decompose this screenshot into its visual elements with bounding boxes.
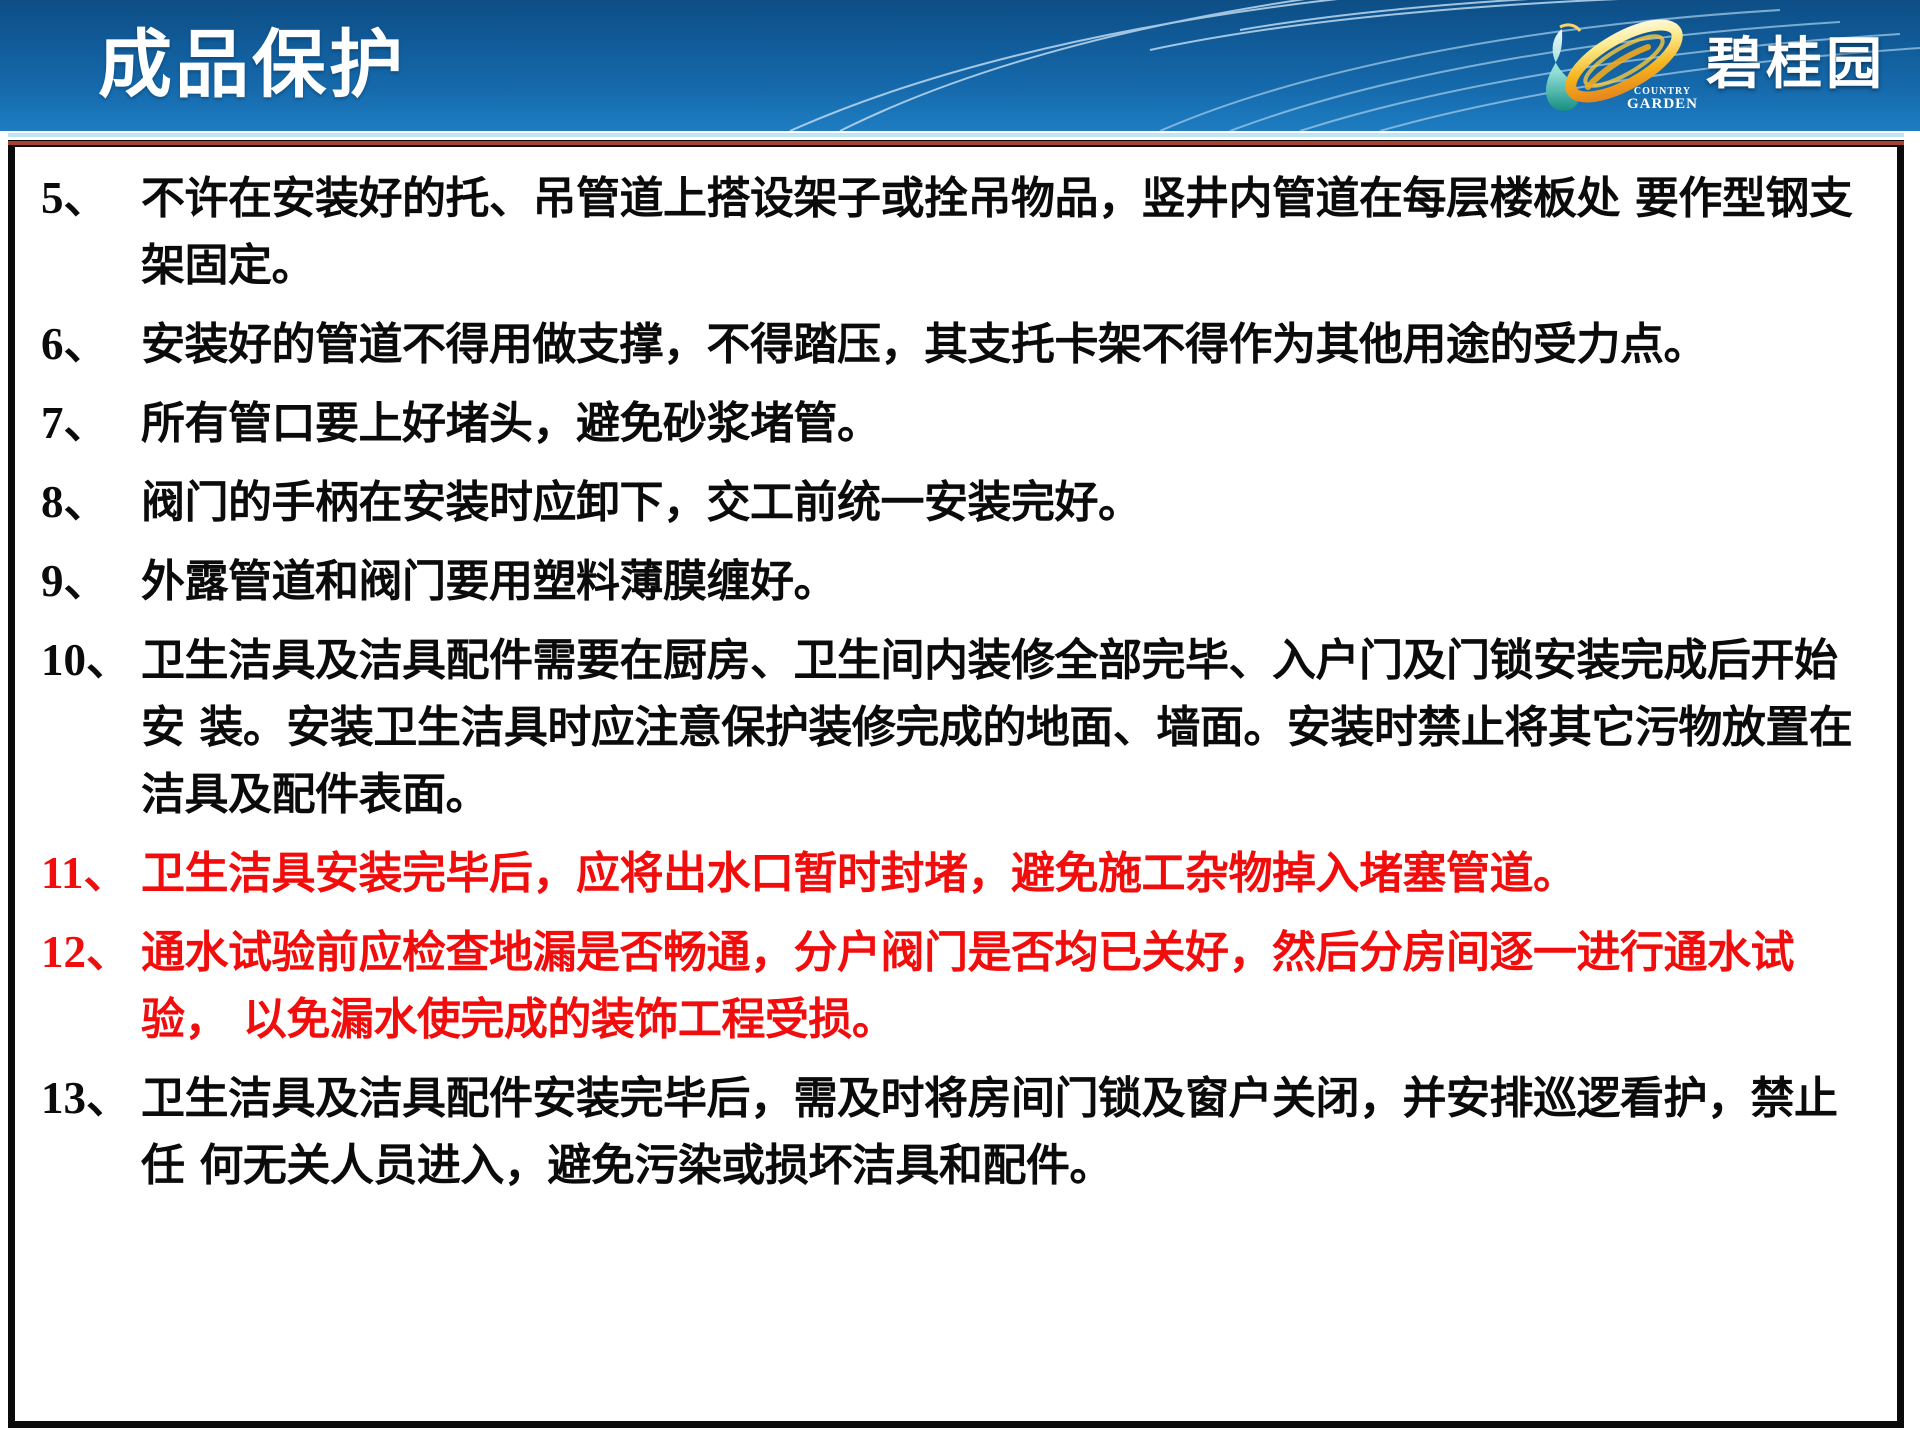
list-item-number: 11、 [41, 840, 141, 907]
frame-cyan-rule [8, 133, 1904, 137]
slide-header: 成品保护 [0, 0, 1920, 131]
list-item: 6、安装好的管道不得用做支撑，不得踏压，其支托卡架不得作为其他用途的受力点。 [41, 311, 1871, 378]
frame-red-rule [8, 141, 1904, 145]
list-item-text: 卫生洁具及洁具配件需要在厨房、卫生间内装修全部完毕、入户门及门锁安装完成后开始安… [141, 627, 1871, 828]
list-item: 7、所有管口要上好堵头，避免砂浆堵管。 [41, 390, 1871, 457]
list-item-text: 卫生洁具及洁具配件安装完毕后，需及时将房间门锁及窗户关闭，并安排巡逻看护，禁止任… [141, 1065, 1871, 1199]
list-item: 5、不许在安装好的托、吊管道上搭设架子或拴吊物品，竖井内管道在每层楼板处 要作型… [41, 165, 1871, 299]
list-item-number: 12、 [41, 919, 141, 986]
list-item-text: 卫生洁具安装完毕后，应将出水口暂时封堵，避免施工杂物掉入堵塞管道。 [141, 840, 1871, 907]
list-item-number: 9、 [41, 548, 141, 615]
list-item-number: 10、 [41, 627, 141, 694]
brand-logo: COUNTRY GARDEN 碧桂园 [1526, 10, 1900, 120]
list-item: 8、阀门的手柄在安装时应卸下，交工前统一安装完好。 [41, 469, 1871, 536]
list-item-number: 5、 [41, 165, 141, 232]
list-item-text: 不许在安装好的托、吊管道上搭设架子或拴吊物品，竖井内管道在每层楼板处 要作型钢支… [141, 165, 1871, 299]
list-item: 13、卫生洁具及洁具配件安装完毕后，需及时将房间门锁及窗户关闭，并安排巡逻看护，… [41, 1065, 1871, 1199]
list-item: 12、通水试验前应检查地漏是否畅通，分户阀门是否均已关好，然后分房间逐一进行通水… [41, 919, 1871, 1053]
content-frame: 5、不许在安装好的托、吊管道上搭设架子或拴吊物品，竖井内管道在每层楼板处 要作型… [8, 140, 1904, 1428]
protection-rules-list: 5、不许在安装好的托、吊管道上搭设架子或拴吊物品，竖井内管道在每层楼板处 要作型… [41, 165, 1871, 1211]
list-item-text: 阀门的手柄在安装时应卸下，交工前统一安装完好。 [141, 469, 1871, 536]
slide-root: 成品保护 [0, 0, 1920, 1440]
list-item-number: 13、 [41, 1065, 141, 1132]
list-item: 9、外露管道和阀门要用塑料薄膜缠好。 [41, 548, 1871, 615]
list-item-text: 安装好的管道不得用做支撑，不得踏压，其支托卡架不得作为其他用途的受力点。 [141, 311, 1871, 378]
list-item-number: 6、 [41, 311, 141, 378]
logo-english-text: COUNTRY GARDEN [1627, 87, 1698, 113]
list-item: 11、卫生洁具安装完毕后，应将出水口暂时封堵，避免施工杂物掉入堵塞管道。 [41, 840, 1871, 907]
list-item-text: 外露管道和阀门要用塑料薄膜缠好。 [141, 548, 1871, 615]
logo-english-line2: GARDEN [1627, 97, 1698, 113]
page-title: 成品保护 [98, 13, 406, 117]
logo-chinese-text: 碧桂园 [1706, 35, 1900, 95]
list-item-number: 8、 [41, 469, 141, 536]
list-item-text: 通水试验前应检查地漏是否畅通，分户阀门是否均已关好，然后分房间逐一进行通水试验，… [141, 919, 1871, 1053]
list-item-number: 7、 [41, 390, 141, 457]
list-item-text: 所有管口要上好堵头，避免砂浆堵管。 [141, 390, 1871, 457]
list-item: 10、卫生洁具及洁具配件需要在厨房、卫生间内装修全部完毕、入户门及门锁安装完成后… [41, 627, 1871, 828]
swan-emblem-icon: COUNTRY GARDEN [1526, 13, 1702, 117]
